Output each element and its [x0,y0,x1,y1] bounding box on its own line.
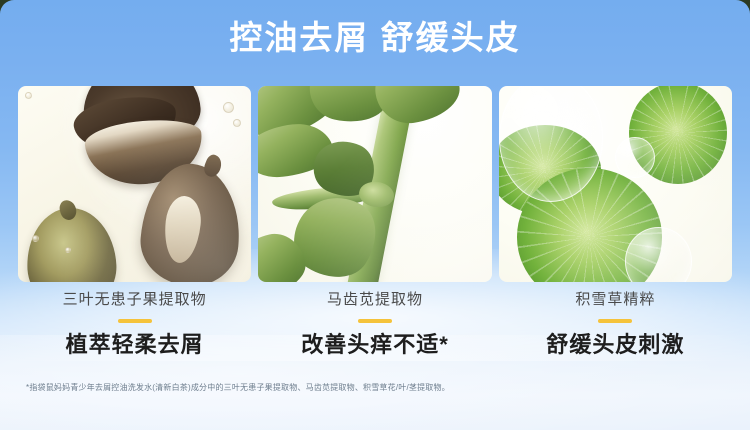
benefit-headline: 舒缓头皮刺激 [499,331,732,359]
water-droplet [65,247,71,253]
product-ingredient-poster: 控油去屑 舒缓头皮 [0,0,750,430]
gold-divider [598,319,632,323]
ingredient-caption-row: 三叶无患子果提取物 植萃轻柔去屑 马齿苋提取物 改善头痒不适* 积雪草精粹 舒缓… [18,290,732,359]
page-title: 控油去屑 舒缓头皮 [0,18,750,58]
caption-column-centella: 积雪草精粹 舒缓头皮刺激 [499,290,732,359]
benefit-headline: 植萃轻柔去屑 [18,331,251,359]
gold-divider [118,319,152,323]
caption-column-purslane: 马齿苋提取物 改善头痒不适* [258,290,491,359]
ingredient-name: 积雪草精粹 [499,290,732,310]
water-droplet [32,235,39,242]
caption-column-soapberry: 三叶无患子果提取物 植萃轻柔去屑 [18,290,251,359]
ingredient-name: 马齿苋提取物 [258,290,491,310]
footnote-disclaimer: *指袋鼠妈妈青少年去屑控油洗发水(清新白茶)成分中的三叶无患子果提取物、马齿苋提… [26,382,726,394]
water-droplet [233,119,241,127]
gold-divider [358,319,392,323]
water-droplet [223,102,234,113]
ingredient-name: 三叶无患子果提取物 [18,290,251,310]
ingredient-photo-soapberry [18,86,251,282]
ingredient-photo-centella [499,86,732,282]
water-bubble-small [615,137,654,178]
water-droplet [25,92,32,99]
water-bubble-medium [625,227,692,282]
ingredient-photo-purslane [258,86,491,282]
ingredient-photo-row [18,86,732,282]
benefit-headline: 改善头痒不适* [258,331,491,359]
